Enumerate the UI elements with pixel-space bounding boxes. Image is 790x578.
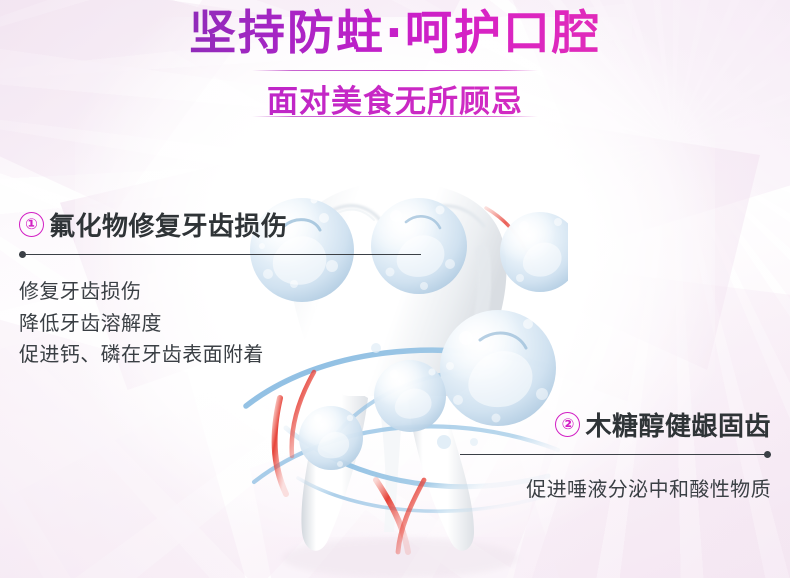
red-swoosh xyxy=(275,398,286,494)
feature-2-divider xyxy=(460,454,771,455)
feature-1-bullets: 修复牙齿损伤 降低牙齿溶解度 促进钙、磷在牙齿表面附着 xyxy=(19,276,421,371)
page-subtitle: 面对美食无所顾忌 xyxy=(0,76,790,121)
feature-2-bullets: 促进唾液分泌中和酸性物质 xyxy=(460,474,771,506)
divider-dot xyxy=(19,251,26,258)
feature-1-bullet-2: 降低牙齿溶解度 xyxy=(19,308,421,340)
feature-2-number-badge: ② xyxy=(555,412,580,437)
feature-1-divider xyxy=(19,254,421,255)
droplet-sphere xyxy=(500,212,568,292)
feature-1-bullet-1: 修复牙齿损伤 xyxy=(19,276,421,308)
feature-2-title: 木糖醇健龈固齿 xyxy=(585,406,771,443)
droplet-sphere xyxy=(299,406,363,470)
droplet-sphere xyxy=(374,360,446,432)
feature-1-number-badge: ① xyxy=(19,212,44,237)
feature-block-1: ① 氟化物修复牙齿损伤 修复牙齿损伤 降低牙齿溶解度 促进钙、磷在牙齿表面附着 xyxy=(19,206,421,371)
promo-banner: 坚持防蛀·呵护口腔 面对美食无所顾忌 ① 氟化物修复牙齿损伤 修复牙齿损伤 降低… xyxy=(0,0,790,578)
feature-block-2: ② 木糖醇健龈固齿 促进唾液分泌中和酸性物质 xyxy=(460,406,771,506)
page-title: 坚持防蛀·呵护口腔 xyxy=(183,8,607,61)
divider-dot xyxy=(764,451,771,458)
feature-2-heading: ② 木糖醇健龈固齿 xyxy=(460,406,771,443)
subtitle-rule-bottom xyxy=(252,116,538,117)
feature-1-heading: ① 氟化物修复牙齿损伤 xyxy=(19,206,421,243)
subtitle-rule-top xyxy=(252,70,538,71)
feature-1-bullet-3: 促进钙、磷在牙齿表面附着 xyxy=(19,339,421,371)
feature-1-title: 氟化物修复牙齿损伤 xyxy=(49,206,288,243)
droplet-small xyxy=(437,435,451,449)
header: 坚持防蛀·呵护口腔 xyxy=(0,8,790,61)
feature-2-bullet-1: 促进唾液分泌中和酸性物质 xyxy=(460,474,771,506)
